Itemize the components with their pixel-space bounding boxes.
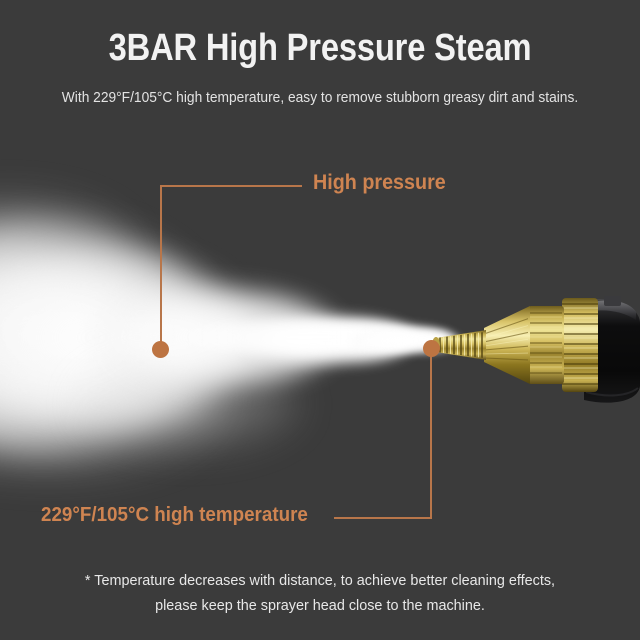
steam-wisp-lower (80, 360, 300, 450)
steam-wisp-upper (0, 200, 130, 310)
callout-high-pressure-dot (152, 341, 169, 358)
callout-label-temperature: 229°F/105°C high temperature (41, 503, 308, 528)
steam-jet-core (160, 322, 450, 352)
callout-high-pressure-vertical-line (160, 186, 162, 350)
callout-temperature-horizontal-line (334, 517, 432, 519)
steam-cloud-lower (0, 330, 220, 470)
nozzle-threaded-tip (432, 328, 486, 364)
brass-spray-nozzle (424, 282, 640, 407)
footnote-line-2: please keep the sprayer head close to th… (13, 593, 627, 618)
nozzle-knurled-collar (562, 298, 598, 392)
steam-cloud-inner (90, 285, 340, 390)
steam-jet-near (235, 314, 415, 366)
callout-temperature-dot (423, 340, 440, 357)
footnote-line-1: * Temperature decreases with distance, t… (13, 568, 627, 593)
page-subtitle: With 229°F/105°C high temperature, easy … (16, 88, 624, 108)
nozzle-cone (484, 306, 530, 384)
product-feature-banner: 3BAR High Pressure Steam With 229°F/105°… (0, 0, 640, 640)
callout-high-pressure-horizontal-line (160, 185, 302, 187)
steam-cloud-mid (0, 250, 250, 425)
steam-plume (0, 210, 480, 460)
callout-temperature-vertical-line (430, 348, 432, 519)
footnote: * Temperature decreases with distance, t… (13, 568, 627, 618)
nozzle-barrel (528, 306, 564, 384)
page-title: 3BAR High Pressure Steam (45, 26, 595, 70)
steam-cloud-left (0, 220, 210, 450)
callout-label-high-pressure: High pressure (313, 170, 446, 196)
